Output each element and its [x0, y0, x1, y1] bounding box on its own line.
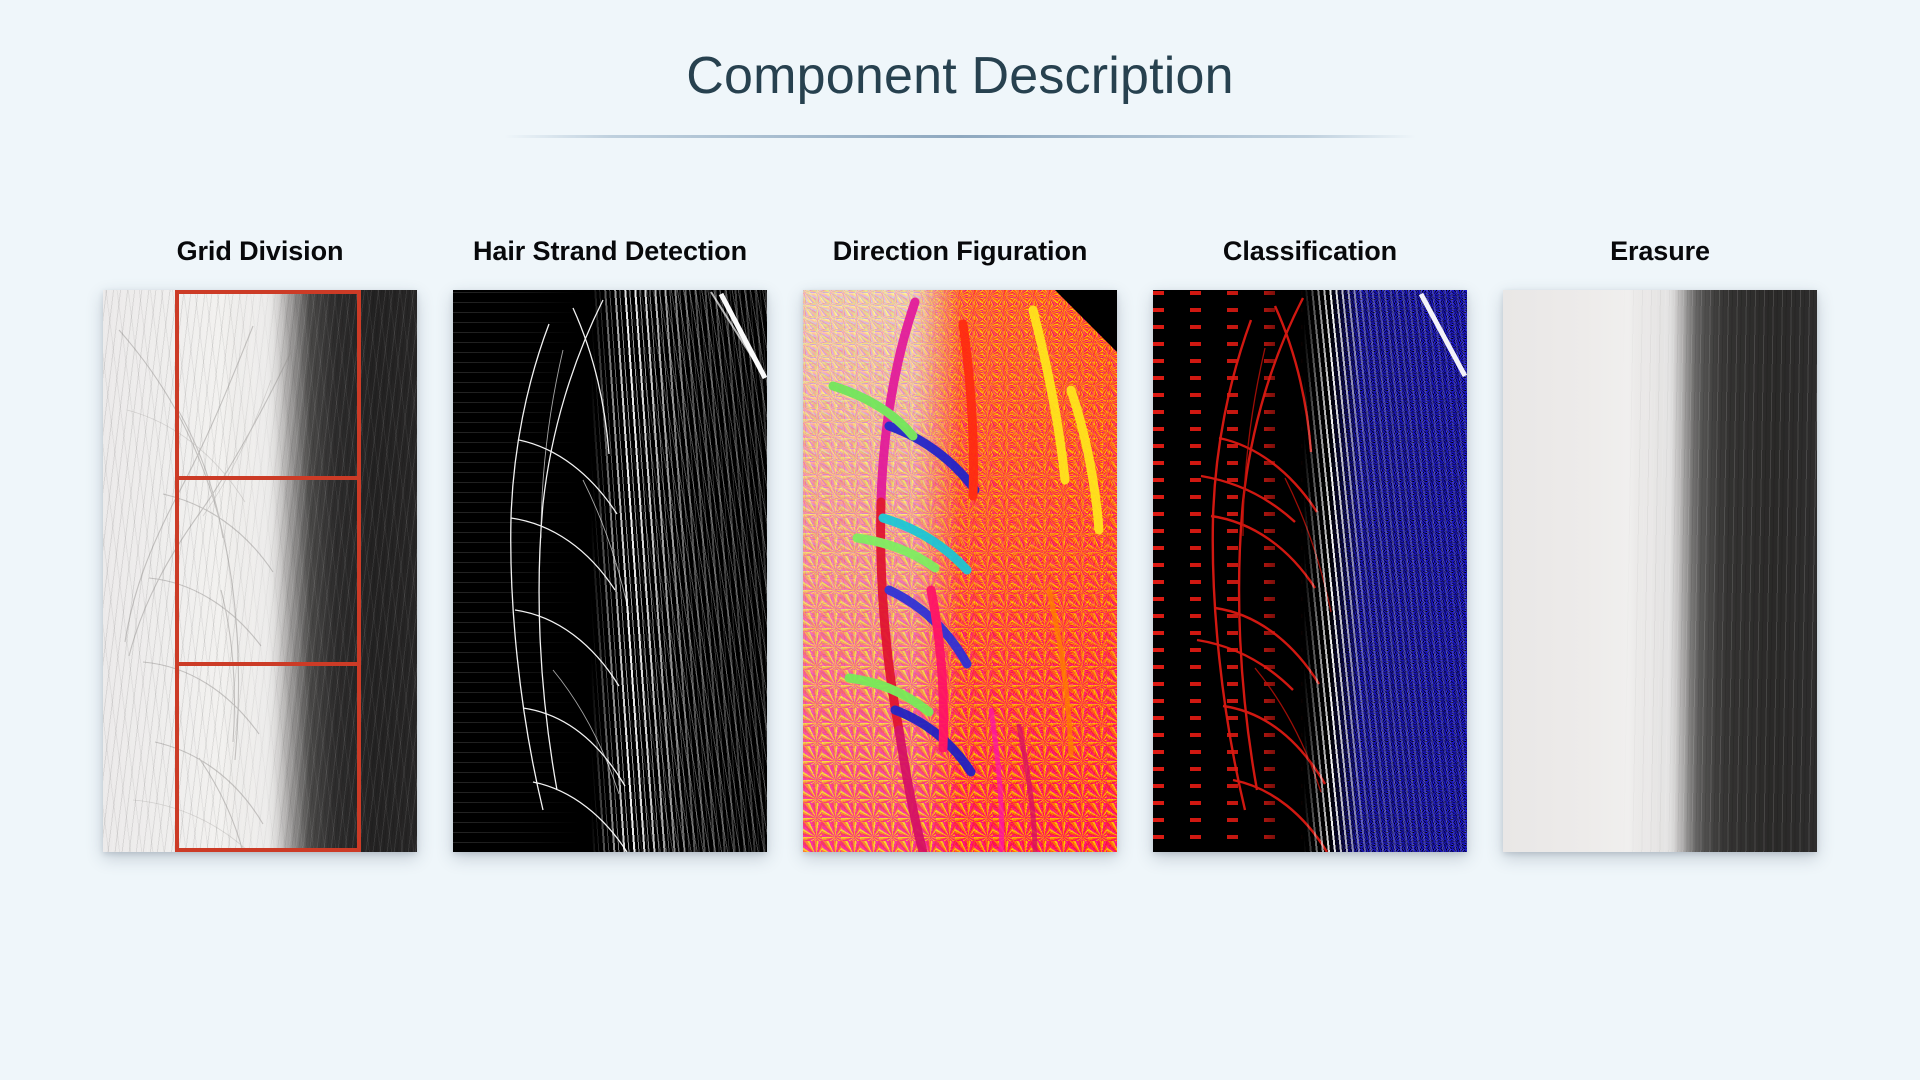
component-panel-row: Grid Division — [0, 236, 1920, 852]
detection-bright-band — [453, 290, 767, 852]
classification-figure[interactable] — [1153, 290, 1467, 852]
grid-cell[interactable] — [175, 662, 361, 852]
direction-figuration-figure[interactable] — [803, 290, 1117, 852]
erasure-highlight-sheen — [1503, 290, 1817, 852]
title-divider — [504, 135, 1416, 138]
panel-hair-strand-detection[interactable]: Hair Strand Detection — [453, 236, 767, 852]
panel-label-hair-strand-detection: Hair Strand Detection — [473, 236, 747, 267]
panel-label-classification: Classification — [1223, 236, 1397, 267]
page-title: Component Description — [0, 48, 1920, 105]
grid-overlay[interactable] — [175, 290, 361, 852]
erasure-figure[interactable] — [1503, 290, 1817, 852]
direction-strand-vectors — [803, 290, 1117, 852]
panel-label-grid-division: Grid Division — [177, 236, 344, 267]
direction-corner-mask — [1055, 290, 1117, 352]
classification-white-boundary — [1153, 290, 1467, 852]
panel-grid-division[interactable]: Grid Division — [103, 236, 417, 852]
panel-erasure[interactable]: Erasure — [1503, 236, 1817, 852]
panel-direction-figuration[interactable]: Direction Figuration — [803, 236, 1117, 852]
hair-strand-detection-figure[interactable] — [453, 290, 767, 852]
grid-cell[interactable] — [175, 476, 361, 666]
panel-label-erasure: Erasure — [1610, 236, 1710, 267]
grid-division-figure[interactable] — [103, 290, 417, 852]
panel-label-direction-figuration: Direction Figuration — [833, 236, 1088, 267]
page-header: Component Description — [0, 0, 1920, 138]
panel-classification[interactable]: Classification — [1153, 236, 1467, 852]
grid-cell[interactable] — [175, 290, 361, 480]
